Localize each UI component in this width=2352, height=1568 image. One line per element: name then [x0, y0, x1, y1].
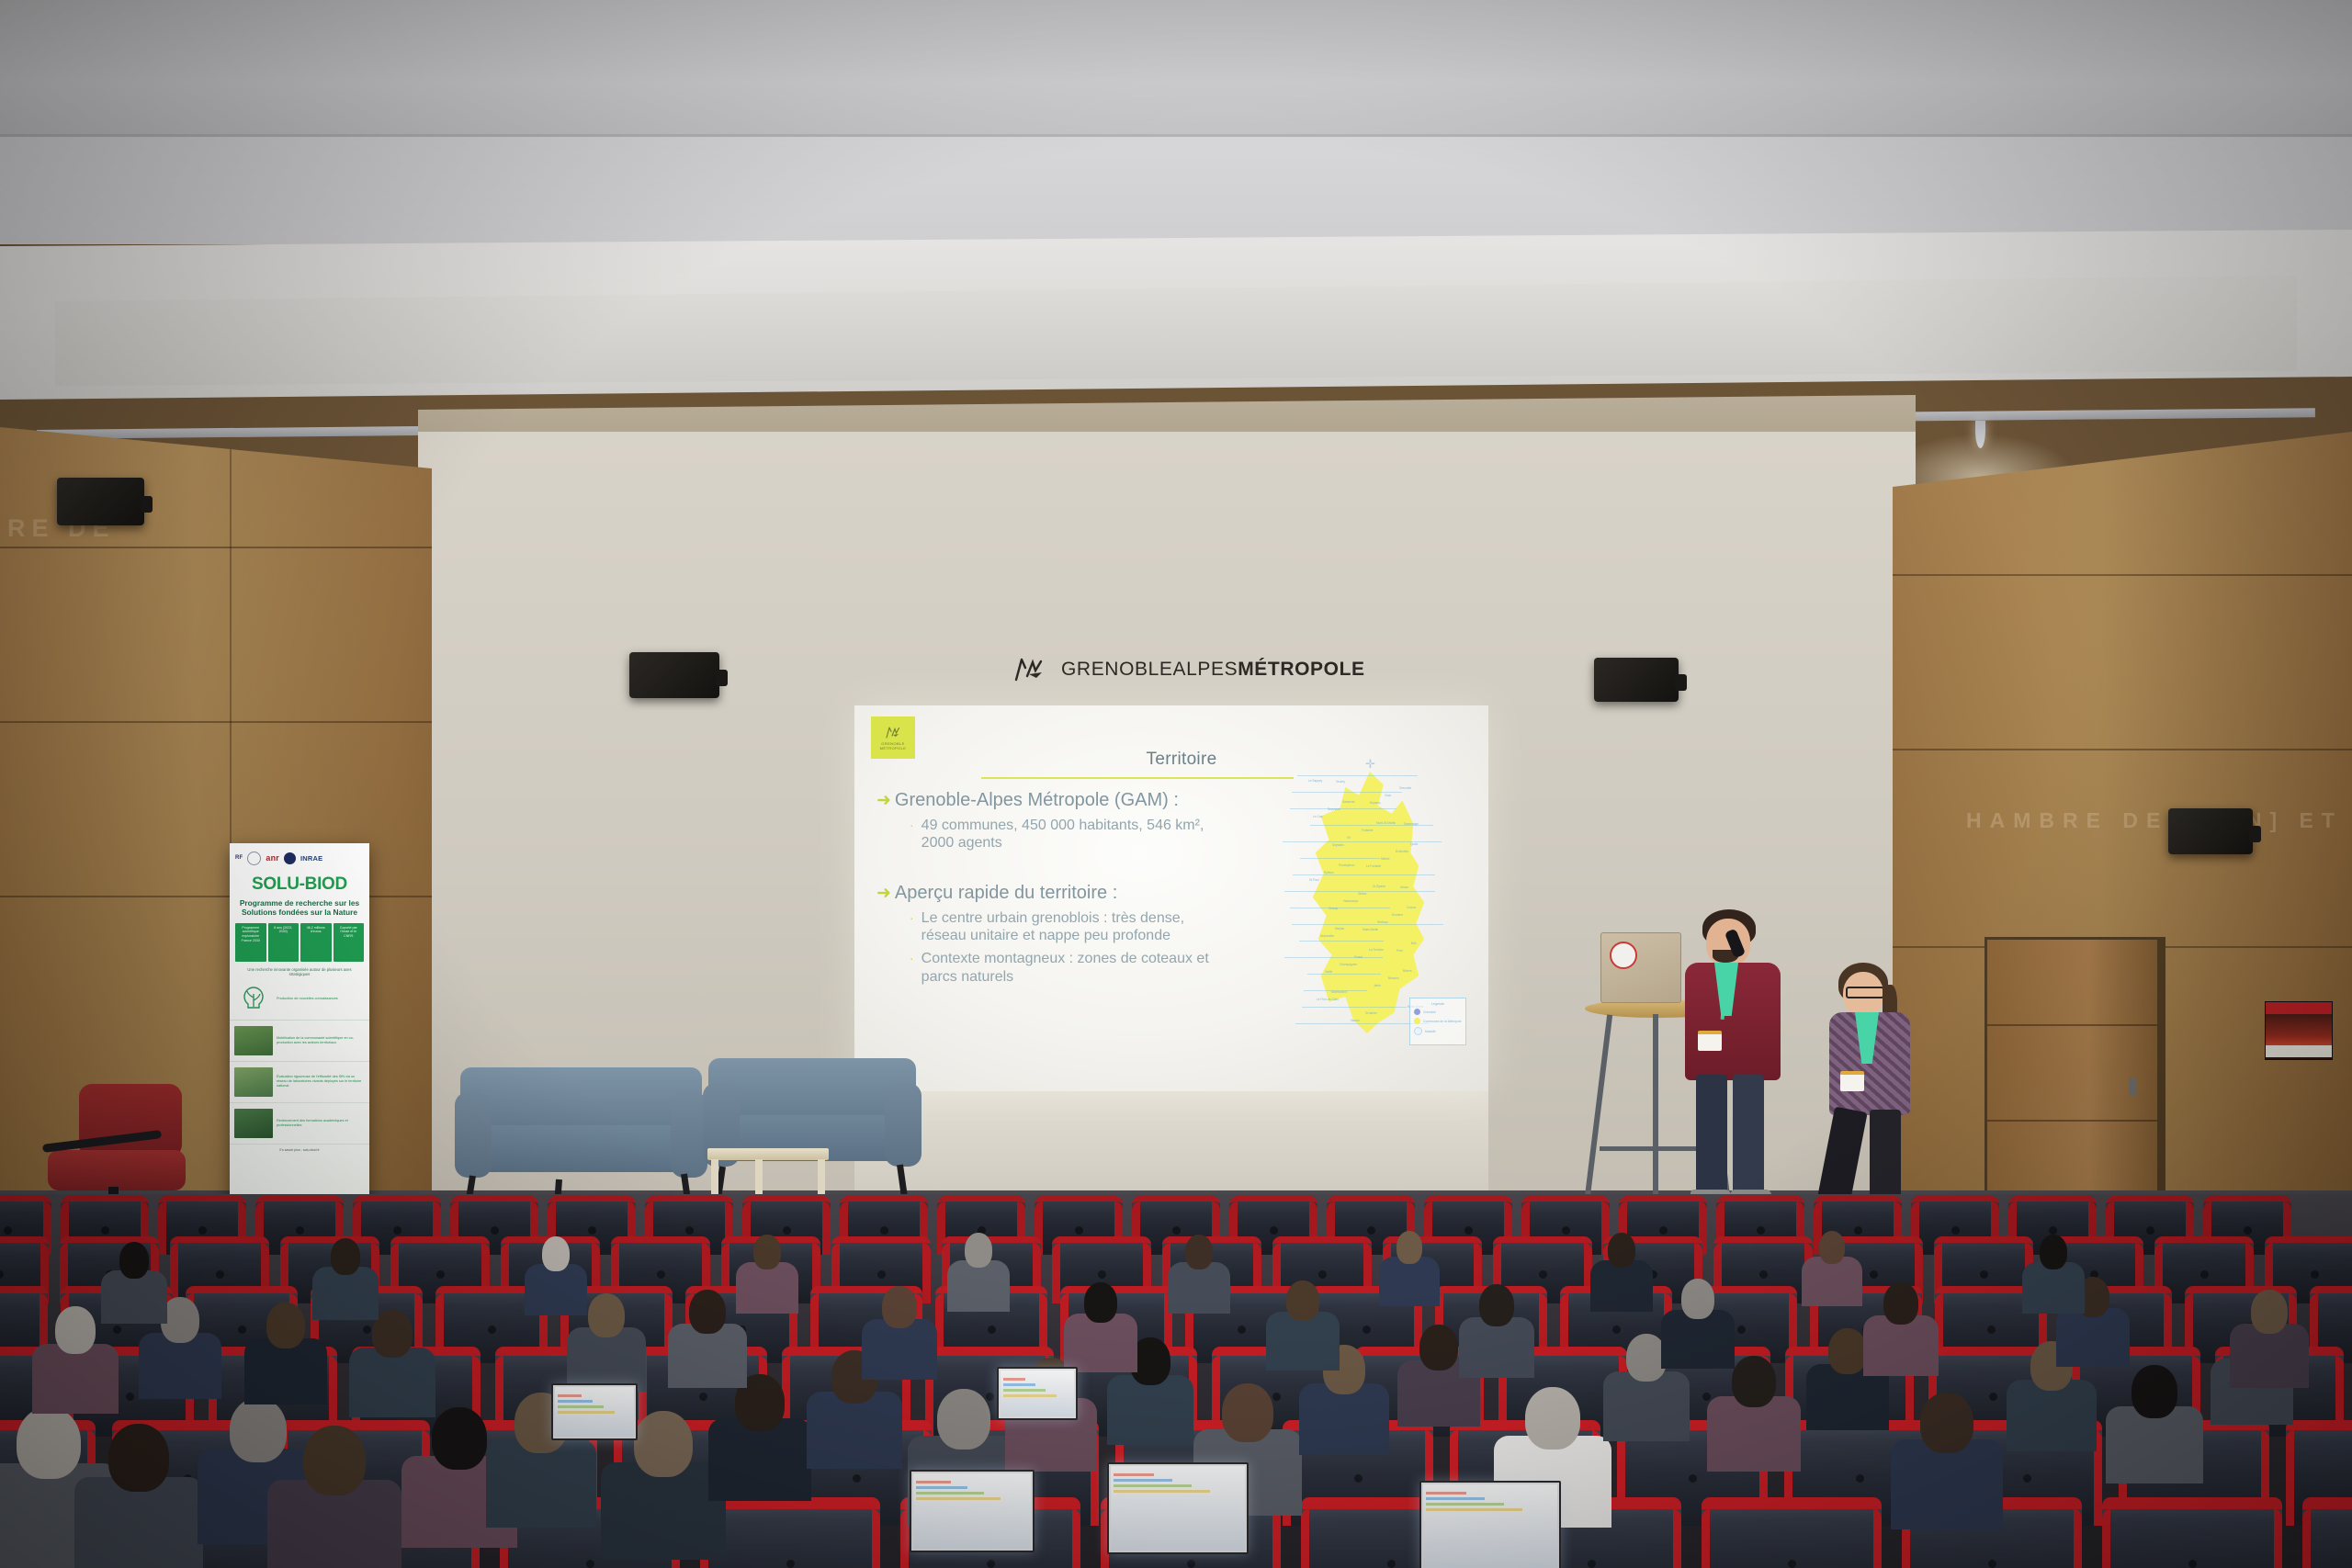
sofa-left[interactable]	[455, 1067, 707, 1205]
banner-axis-row: Renforcement des formations académiques …	[230, 1103, 369, 1145]
map-commune-label: Murianette	[1320, 934, 1334, 938]
audience-member-head	[266, 1303, 305, 1348]
map-road-line	[1290, 908, 1390, 908]
map-commune-label: Venon	[1400, 886, 1408, 889]
slide-logo-label: GRENOBLEMÉTROPOLE	[880, 741, 907, 750]
seat-trim-right	[1272, 1509, 1281, 1568]
map-road-line	[1300, 858, 1381, 859]
map-commune-label: Le Fontanil	[1366, 864, 1381, 868]
dash-bullet-icon: ·	[910, 950, 914, 985]
republique-francaise-logo-icon: RF	[235, 855, 243, 861]
banner-axis-row: Évaluation rigoureuse de l'efficacité de…	[230, 1062, 369, 1103]
map-commune-label: Champagnier	[1340, 963, 1357, 966]
audience-member-head	[1286, 1280, 1319, 1321]
map-commune-label: Grenoble	[1399, 786, 1411, 790]
laptop-screen	[1111, 1466, 1245, 1551]
audience-laptop[interactable]	[1419, 1481, 1561, 1568]
presenter-badge	[1698, 1031, 1722, 1051]
audience-member-body	[1891, 1439, 2003, 1529]
audience-member-head	[542, 1236, 570, 1271]
seat-trim-right	[2074, 1509, 2082, 1568]
banner-axis-text: Production de nouvelles connaissances	[277, 997, 338, 1001]
door-handle[interactable]	[2129, 1077, 2137, 1096]
dash-bullet-icon: ·	[910, 909, 914, 944]
ceiling-upper	[0, 0, 2352, 138]
map-commune-label: Bresson	[1388, 976, 1399, 980]
auditorium-seat[interactable]	[2302, 1497, 2352, 1568]
audience-member-head	[331, 1238, 360, 1275]
map-commune-label: Proveysieux	[1339, 863, 1354, 867]
laptop-screen-row	[916, 1492, 984, 1495]
auditorium-seat[interactable]	[700, 1497, 880, 1568]
screen-lower-drape	[854, 1089, 1488, 1207]
map-commune-label: Miribel	[1381, 857, 1389, 861]
audience-member-head	[689, 1290, 726, 1334]
audience-member-head	[17, 1407, 81, 1479]
slide-body: ➜ Grenoble-Alpes Métropole (GAM) : · 49 …	[876, 790, 1224, 986]
map-commune-label: Seyssinet	[1328, 807, 1340, 811]
audience-member-head	[1084, 1282, 1117, 1323]
map-commune-label: St-Ismier	[1365, 1011, 1377, 1015]
laptop-screen-row	[558, 1400, 593, 1403]
auditorium-seat[interactable]	[2102, 1497, 2282, 1568]
audience-member-head	[2131, 1365, 2177, 1418]
map-commune-label: Domène	[1392, 913, 1403, 917]
map-commune-label: Varces	[1351, 1019, 1360, 1022]
banner-axis-text: Évaluation rigoureuse de l'efficacité de…	[277, 1075, 365, 1089]
slide-bullet-2: ➜ Aperçu rapide du territoire :	[876, 883, 1224, 904]
banner-subtitle: Programme de recherche sur les Solutions…	[230, 898, 369, 918]
ceiling-band	[0, 136, 2352, 244]
laptop-screen-row	[1426, 1503, 1504, 1506]
laptop-screen-row	[916, 1481, 951, 1483]
audience-member-head	[882, 1286, 917, 1328]
slide-subbullet-1-1: · 49 communes, 450 000 habitants, 546 km…	[910, 817, 1224, 852]
banner-fact-box: Programme scientifique exploratoire Fran…	[235, 923, 266, 962]
slide-logo-mark-icon	[884, 726, 902, 739]
map-commune-label: Jarrie	[1374, 984, 1381, 987]
map-commune-label: Pont	[1396, 949, 1403, 953]
banner-note: Une recherche innovante organisée autour…	[230, 965, 369, 979]
banner-logos: RF anr INRAE	[230, 843, 369, 869]
slide-subbullet-2-2-text: Contexte montagneux : zones de coteaux e…	[922, 950, 1224, 985]
presenter-co	[1815, 963, 1921, 1216]
map-commune-label: Meylan	[1335, 927, 1344, 931]
wall-speaker-center-left	[629, 652, 719, 698]
audience-member-head	[588, 1293, 625, 1337]
map-legend-item: Grenoble	[1414, 1009, 1462, 1015]
map-commune-label: Sarcenas	[1342, 800, 1354, 804]
map-legend-label: Communes de la Métropole	[1423, 1020, 1462, 1023]
map-commune-label: Herbeys	[1377, 920, 1388, 924]
audience-member-body	[601, 1462, 726, 1560]
map-commune-label: La Tronche	[1369, 948, 1384, 952]
slide-logo: GRENOBLEMÉTROPOLE	[871, 716, 915, 759]
laptop-screen-row	[558, 1411, 615, 1414]
co-presenter-glasses-icon	[1846, 987, 1884, 998]
audience-laptop[interactable]	[551, 1383, 638, 1440]
slide-bullet-1-text: Grenoble-Alpes Métropole (GAM) :	[895, 790, 1179, 811]
laptop-screen	[1423, 1484, 1557, 1568]
audience-member-head	[1185, 1235, 1213, 1269]
audience-member-head	[1479, 1284, 1514, 1326]
audience-member-body	[525, 1264, 587, 1315]
banner-photo-thumb	[234, 1109, 273, 1138]
seat-trim-right	[822, 1201, 831, 1255]
seat-trim-left	[2286, 1430, 2294, 1526]
audience-member-head	[1920, 1393, 1973, 1453]
map-road-line	[1307, 974, 1380, 975]
laptop-screen-row	[1003, 1378, 1025, 1381]
map-road-line	[1297, 775, 1418, 776]
map-commune-label: Échirolles	[1396, 850, 1408, 853]
audience-member-head	[1819, 1231, 1845, 1264]
audience-member-head	[2040, 1235, 2067, 1269]
banner-axis-text: Mobilisation de la communauté scientifiq…	[277, 1036, 365, 1045]
map-legend-item: Massifs	[1414, 1027, 1462, 1035]
presenter-leg-right	[1733, 1075, 1764, 1192]
laptop-screen-row	[1426, 1497, 1485, 1500]
audience-member-head	[634, 1411, 693, 1477]
map-commune-label: Le Pont-de-Claix	[1317, 998, 1339, 1001]
slide-bullet-1: ➜ Grenoble-Alpes Métropole (GAM) :	[876, 790, 1224, 811]
map-commune-label: Vizille	[1325, 970, 1332, 974]
slide-subbullet-1-1-text: 49 communes, 450 000 habitants, 546 km²,…	[922, 817, 1224, 852]
laptop-screen-row	[1114, 1490, 1210, 1493]
seat-trim-right	[1873, 1509, 1882, 1568]
anr-logo: anr	[266, 853, 279, 863]
map-road-line	[1290, 808, 1396, 809]
ceiling-seam	[0, 134, 2352, 137]
wall-poster-right	[2265, 1001, 2333, 1060]
audience-member-head	[1732, 1356, 1776, 1407]
map-legend-item: Communes de la Métropole	[1414, 1018, 1462, 1024]
banner-axis-row: Mobilisation de la communauté scientifiq…	[230, 1021, 369, 1062]
solu-biod-banner: RF anr INRAE SOLU-BIOD Programme de rech…	[230, 843, 369, 1229]
map-commune-label: Le Gua	[1313, 815, 1322, 818]
audience-member-body	[1168, 1262, 1230, 1314]
map-legend-label: Grenoble	[1423, 1010, 1436, 1014]
map-commune-label: Quaix	[1410, 842, 1418, 846]
grenoble-logo-mark-icon	[1011, 656, 1053, 683]
slide-territory-map: ✛ Le SappeySarcenasMont-St-MartinQuaixPr…	[1277, 759, 1470, 1053]
presentation-slide: GRENOBLEMÉTROPOLE Territoire ➜ Grenoble-…	[854, 705, 1488, 1091]
laptop-screen-row	[1114, 1473, 1154, 1476]
banner-fact-box: 8 ans (2023-2030)	[268, 923, 300, 962]
map-commune-label: Claix	[1385, 794, 1391, 797]
seat-trim-right	[872, 1509, 880, 1568]
audience-laptop[interactable]	[997, 1367, 1078, 1420]
audience-member-head	[965, 1233, 992, 1268]
seat-trim-left	[2102, 1509, 2110, 1568]
seat-trim-right	[1673, 1509, 1681, 1568]
venue-sign-text-1: GRENOBLEALPES	[1061, 659, 1238, 680]
map-road-line	[1299, 941, 1384, 942]
audience-member-head	[1419, 1325, 1458, 1371]
audience-member-head	[1828, 1328, 1867, 1374]
seat-trim-right	[1072, 1509, 1080, 1568]
laptop-screen	[1001, 1371, 1074, 1416]
map-commune-label: Sassenage	[1404, 822, 1419, 826]
banner-footer: En savoir plus : solu-biod.fr	[230, 1145, 369, 1156]
banner-axis-text: Renforcement des formations académiques …	[277, 1119, 365, 1128]
slide-subbullet-2-1: · Le centre urbain grenoblois : très den…	[910, 909, 1224, 944]
banner-axis-row: Production de nouvelles connaissances	[230, 979, 369, 1021]
seat-trim-left	[1702, 1509, 1710, 1568]
venue-sign: GRENOBLEALPESMÉTROPOLE	[1011, 652, 1328, 687]
laptop-screen-row	[1426, 1508, 1522, 1511]
map-commune-label: Seyssins	[1332, 843, 1344, 847]
banner-fact-box: Coporté par l'Inrae et le CNRS	[334, 923, 365, 962]
audience-laptop[interactable]	[1107, 1462, 1249, 1554]
laptop-screen-row	[916, 1497, 1001, 1500]
laptop-screen	[555, 1387, 634, 1437]
wall-speaker-right	[2168, 808, 2253, 854]
map-commune-label: Corenc	[1407, 906, 1416, 909]
map-commune-label: Montbonnot	[1331, 990, 1347, 994]
seat-trim-left	[158, 1201, 166, 1255]
laptop-screen-row	[1114, 1479, 1172, 1482]
inrae-logo: INRAE	[300, 854, 322, 863]
audience-member-head	[1222, 1383, 1273, 1442]
map-commune-label: Biviers	[1403, 969, 1412, 973]
map-commune-label: Eybens	[1324, 871, 1334, 874]
map-road-line	[1292, 924, 1443, 925]
laptop-screen-row	[1114, 1484, 1192, 1487]
audience-member-head	[1681, 1279, 1714, 1319]
arrow-bullet-icon: ➜	[876, 885, 891, 904]
map-legend-label: Massifs	[1425, 1030, 1436, 1033]
audience-member-head	[753, 1235, 781, 1269]
audience-seating	[0, 1194, 2352, 1568]
banner-title: SOLU-BIOD	[230, 874, 369, 895]
banner-fact-boxes: Programme scientifique exploratoire Fran…	[230, 918, 369, 965]
lightbulb-leaf-icon	[234, 985, 273, 1014]
audience-member-head	[303, 1426, 366, 1495]
map-compass-icon: ✛	[1365, 757, 1375, 772]
laptop-screen-row	[1003, 1394, 1057, 1397]
partner-circle-logo-icon	[247, 852, 261, 865]
map-commune-label: Vif	[1347, 836, 1351, 840]
slide-subbullet-2-1-text: Le centre urbain grenoblois : très dense…	[922, 909, 1224, 944]
map-commune-label: St-Égrève	[1373, 885, 1385, 888]
audience-member-head	[1396, 1231, 1422, 1264]
conference-room-photo: RE DE HAMBRE DE [CON] ET EAUX GRENOBLEAL…	[0, 0, 2352, 1568]
map-commune-label: Le Sappey	[1308, 779, 1322, 783]
map-commune-label: Noyarey	[1370, 801, 1381, 805]
map-commune-label: St-Paul	[1309, 878, 1318, 882]
laptop-screen	[913, 1473, 1031, 1549]
seat-trim-right	[922, 1243, 931, 1303]
venue-sign-text: GRENOBLEALPESMÉTROPOLE	[1061, 659, 1365, 681]
seat-trim-left	[2302, 1509, 2311, 1568]
laptop-screen-row	[1003, 1383, 1035, 1386]
map-commune-label: Poisat	[1354, 955, 1363, 959]
laptop-screen-row	[1426, 1492, 1466, 1495]
banner-fact-box: 46,2 millions d'euros	[300, 923, 332, 962]
presenter-speaker	[1672, 909, 1792, 1213]
audience-member-body	[736, 1262, 798, 1314]
laptop-screen-row	[558, 1405, 604, 1408]
audience-member-head	[1525, 1387, 1580, 1450]
laptop-screen-row	[916, 1486, 967, 1489]
laptop-screen-row	[1003, 1389, 1046, 1392]
presenter-laptop[interactable]	[1600, 932, 1681, 1003]
seat-trim-left	[1301, 1509, 1309, 1568]
audience-member-body	[1590, 1260, 1653, 1312]
audience-member-head	[230, 1398, 287, 1462]
arrow-bullet-icon: ➜	[876, 792, 891, 811]
banner-photo-thumb	[234, 1067, 273, 1097]
map-road-line	[1302, 1007, 1407, 1008]
map-legend: Légende Grenoble Communes de la Métropol…	[1409, 998, 1466, 1045]
audience-laptop[interactable]	[910, 1470, 1035, 1552]
auditorium-seat[interactable]	[1702, 1497, 1882, 1568]
venue-sign-text-2: MÉTROPOLE	[1238, 659, 1364, 680]
wall-speaker-left	[57, 478, 144, 525]
audience-member-body	[1379, 1257, 1440, 1306]
map-commune-label: Veurey	[1336, 780, 1345, 784]
map-commune-label: Saint-Martin	[1363, 928, 1378, 931]
wall-etching-right: HAMBRE DE [CON] ET EAUX	[1966, 808, 2352, 833]
seat-trim-right	[2274, 1509, 2282, 1568]
laptop-sticker	[1610, 942, 1637, 969]
map-commune-label: Fontaine	[1362, 829, 1373, 832]
audience-member-body	[1802, 1257, 1862, 1306]
audience-member-head	[1883, 1282, 1918, 1325]
presenter-leg-left	[1696, 1075, 1727, 1192]
map-commune-label: Brié	[1411, 942, 1417, 945]
audience-member-head	[937, 1389, 990, 1450]
banner-photo-thumb	[234, 1026, 273, 1055]
cnrs-logo-icon	[284, 852, 296, 864]
projection-screen: GRENOBLEMÉTROPOLE Territoire ➜ Grenoble-…	[854, 705, 1488, 1091]
slide-subbullet-2-2: · Contexte montagneux : zones de coteaux…	[910, 950, 1224, 985]
map-road-line	[1292, 792, 1402, 793]
map-territory-shape	[1299, 772, 1435, 1033]
audience-member-head	[119, 1242, 149, 1279]
slide-bullet-2-text: Aperçu rapide du territoire :	[895, 883, 1117, 904]
wall-speaker-center-right	[1594, 658, 1679, 702]
map-road-line	[1284, 957, 1383, 958]
dash-bullet-icon: ·	[910, 817, 914, 852]
map-road-line	[1293, 874, 1435, 875]
audience-member-head	[1608, 1233, 1635, 1268]
map-commune-label: Vaulnaveys	[1343, 899, 1358, 903]
laptop-screen-row	[558, 1394, 582, 1397]
exit-door[interactable]	[1984, 937, 2165, 1209]
audience-member-head	[108, 1424, 169, 1492]
seat-trim-left	[1052, 1243, 1060, 1303]
map-legend-header: Légende	[1414, 1002, 1462, 1006]
map-commune-label: Champ	[1329, 907, 1338, 910]
slide-title-rule	[981, 777, 1294, 779]
audience-member-head	[432, 1407, 487, 1470]
audience-member-body	[2022, 1262, 2085, 1314]
map-commune-label: Gières	[1358, 892, 1366, 896]
co-presenter-badge	[1840, 1071, 1864, 1091]
audience-member-body	[947, 1260, 1010, 1312]
map-commune-label: Mont-St-Martin	[1376, 821, 1396, 825]
audience-member-head	[2251, 1290, 2288, 1334]
audience-member-head	[55, 1306, 96, 1354]
